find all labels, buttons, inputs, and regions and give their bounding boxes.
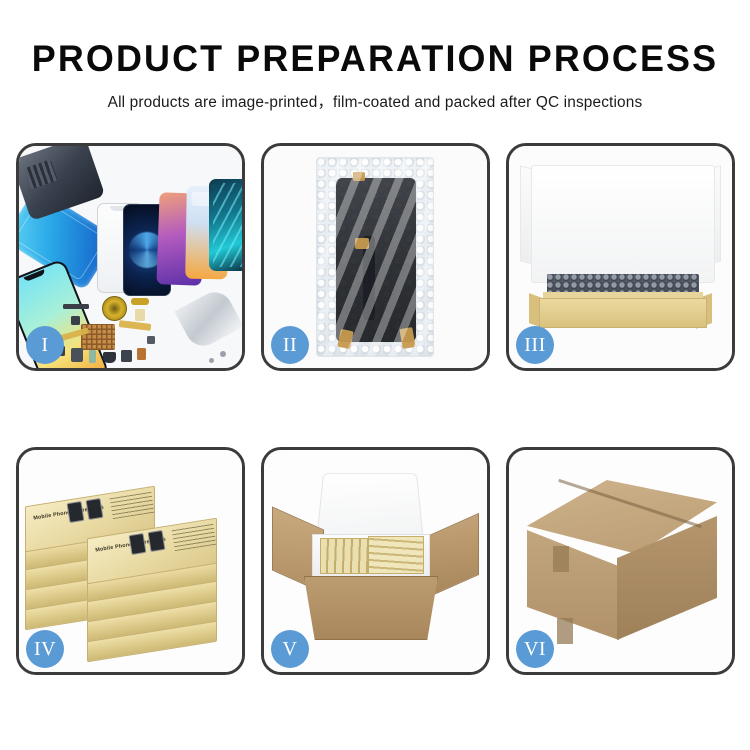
process-step-3: III Placed into a padded white inner box [506, 143, 735, 371]
part-chip [131, 298, 149, 305]
step-badge-4: IV [26, 630, 64, 668]
screw-icon [220, 351, 226, 357]
process-step-6: VI Carton sealed and ready to ship [506, 447, 735, 675]
bubble-wrap-icon [316, 157, 434, 357]
screen-print-icon [148, 530, 166, 552]
box-base-front [539, 298, 707, 328]
part-chip [137, 348, 146, 360]
screen-print-icon [129, 533, 147, 555]
part-chip [121, 350, 132, 362]
step-badge-5: V [271, 630, 309, 668]
product-preparation-infographic: PRODUCT PREPARATION PROCESS All products… [0, 0, 750, 750]
speaker-coil-icon [102, 296, 127, 321]
part-chip [135, 309, 145, 321]
foam-lid-icon [316, 473, 423, 537]
screw-icon [209, 358, 214, 363]
process-step-2: II Each screen assembly sealed in bubble… [261, 143, 490, 371]
page-subtitle: All products are image-printed，film-coat… [0, 90, 750, 112]
tape-patch-icon [557, 618, 573, 644]
part-chip [71, 316, 80, 325]
process-step-4: Mobile Phone Spare Parts Mobile Phone Sp… [16, 447, 245, 675]
part-chip [63, 304, 89, 309]
part-chip [147, 336, 155, 344]
screen-print-icon [67, 501, 85, 523]
step-badge-6: VI [516, 630, 554, 668]
step-badge-3: III [516, 326, 554, 364]
page-title: PRODUCT PREPARATION PROCESS [11, 40, 739, 79]
part-chip [89, 350, 96, 363]
step-badge-1: I [26, 326, 64, 364]
process-step-5: V Loaded into a foam-lined shipping cart… [261, 447, 490, 675]
carton-front-icon [304, 576, 438, 640]
process-grid: I Mobile phone LCD screens, glass and sp… [16, 143, 734, 675]
header: PRODUCT PREPARATION PROCESS All products… [0, 0, 750, 112]
part-chip [103, 352, 116, 363]
packed-boxes-icon [368, 536, 424, 574]
box-lid-icon [531, 165, 715, 283]
step-badge-2: II [271, 326, 309, 364]
tape-patch-icon [553, 546, 569, 572]
process-step-1: I Mobile phone LCD screens, glass and sp… [16, 143, 245, 371]
screen-print-icon [86, 498, 104, 520]
part-chip [71, 348, 83, 362]
teal-phone-icon [209, 179, 242, 271]
